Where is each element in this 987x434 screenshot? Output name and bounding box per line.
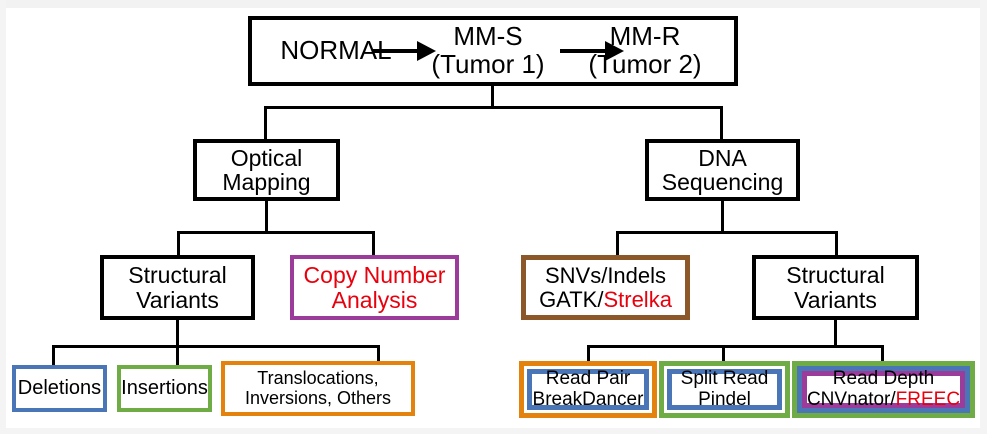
sample-progression-box: NORMAL MM-S (Tumor 1) MM-R (Tumor 2)	[248, 16, 738, 86]
dna-sequencing-box: DNA Sequencing	[645, 139, 800, 201]
read-pair-ring-blue: Read Pair BreakDancer	[527, 369, 649, 410]
root-mms-sublabel: (Tumor 1)	[431, 51, 544, 79]
snvs-line1: SNVs/Indels	[545, 264, 666, 287]
read-depth-ring-blue: Read Depth CNVnator/FREEC	[797, 366, 970, 413]
dna-sv-line2: Variants	[794, 288, 877, 312]
connector-om-sv-bus	[52, 345, 380, 348]
optical-mapping-line1: Optical	[231, 146, 303, 170]
read-pair-line1: Read Pair	[546, 369, 631, 389]
translocations-line2: Inversions, Others	[245, 389, 391, 408]
connector-to-insertions	[176, 345, 179, 367]
connector-optical-stem	[265, 201, 268, 233]
cna-line2: Analysis	[332, 288, 418, 312]
split-read-ring-white: Split Read Pindel	[664, 366, 785, 413]
read-pair-breakdancer-box: Read Pair BreakDancer	[519, 361, 657, 418]
read-depth-ring-purple: Read Depth CNVnator/FREEC	[802, 371, 965, 408]
flowchart-canvas: NORMAL MM-S (Tumor 1) MM-R (Tumor 2) Opt…	[0, 0, 987, 434]
copy-number-analysis-box: Copy Number Analysis	[290, 255, 459, 320]
read-depth-line2: CNVnator/FREEC	[807, 390, 960, 410]
snvs-line2: GATK/Strelka	[539, 288, 672, 311]
translocations-line1: Translocations,	[257, 369, 378, 388]
read-pair-line2: BreakDancer	[533, 390, 644, 410]
connector-to-optical	[264, 106, 267, 139]
optical-mapping-line2: Mapping	[222, 170, 310, 194]
insertions-label: Insertions	[121, 378, 208, 399]
page-right-margin	[980, 0, 987, 434]
split-read-line1: Split Read	[681, 369, 769, 389]
read-depth-cnvnator-label: CNVnator/	[807, 389, 896, 410]
connector-om-sv-stem	[176, 320, 179, 347]
split-read-ring-blue: Split Read Pindel	[667, 369, 782, 410]
snvs-gatk-label: GATK/	[539, 287, 603, 312]
snvs-indels-box: SNVs/Indels GATK/Strelka	[521, 255, 690, 320]
dna-sequencing-line1: DNA	[698, 146, 747, 170]
deletions-box: Deletions	[12, 365, 107, 412]
page-left-margin	[0, 0, 6, 434]
split-read-line2: Pindel	[698, 390, 751, 410]
connector-to-cna	[372, 231, 375, 257]
connector-to-deletions	[52, 345, 55, 367]
root-mms-label: MM-S	[453, 23, 522, 51]
snvs-strelka-label: Strelka	[603, 287, 671, 312]
read-depth-line1: Read Depth	[833, 369, 934, 389]
translocations-box: Translocations, Inversions, Others	[221, 361, 415, 416]
connector-root-stem	[491, 86, 494, 108]
optical-mapping-box: Optical Mapping	[193, 139, 340, 201]
page-bottom-margin	[0, 428, 987, 434]
om-sv-line2: Variants	[136, 288, 219, 312]
page-top-margin	[0, 0, 987, 8]
read-depth-freec-label: FREEC	[896, 389, 960, 410]
split-read-pindel-box: Split Read Pindel	[659, 361, 790, 418]
connector-dna-sv-stem	[834, 320, 837, 347]
dna-sv-line1: Structural	[786, 263, 884, 287]
connector-to-om-sv	[177, 231, 180, 257]
connector-to-dna	[720, 106, 723, 139]
read-pair-ring-white: Read Pair BreakDancer	[524, 366, 652, 413]
om-structural-variants-box: Structural Variants	[100, 255, 255, 320]
dna-structural-variants-box: Structural Variants	[752, 255, 919, 320]
dna-sequencing-line2: Sequencing	[662, 170, 784, 194]
connector-dna-stem	[721, 201, 724, 233]
insertions-box: Insertions	[117, 365, 212, 412]
deletions-label: Deletions	[18, 378, 101, 399]
read-depth-cnvnator-freec-box: Read Depth CNVnator/FREEC	[792, 361, 975, 418]
connector-dna-sv-bus	[587, 345, 884, 348]
om-sv-line1: Structural	[128, 263, 226, 287]
cna-line1: Copy Number	[304, 263, 446, 287]
connector-to-snvs	[616, 231, 619, 257]
connector-to-dna-sv	[835, 231, 838, 257]
connector-dna-bus	[616, 231, 838, 234]
connector-root-bus	[264, 106, 723, 109]
connector-optical-bus	[177, 231, 375, 234]
